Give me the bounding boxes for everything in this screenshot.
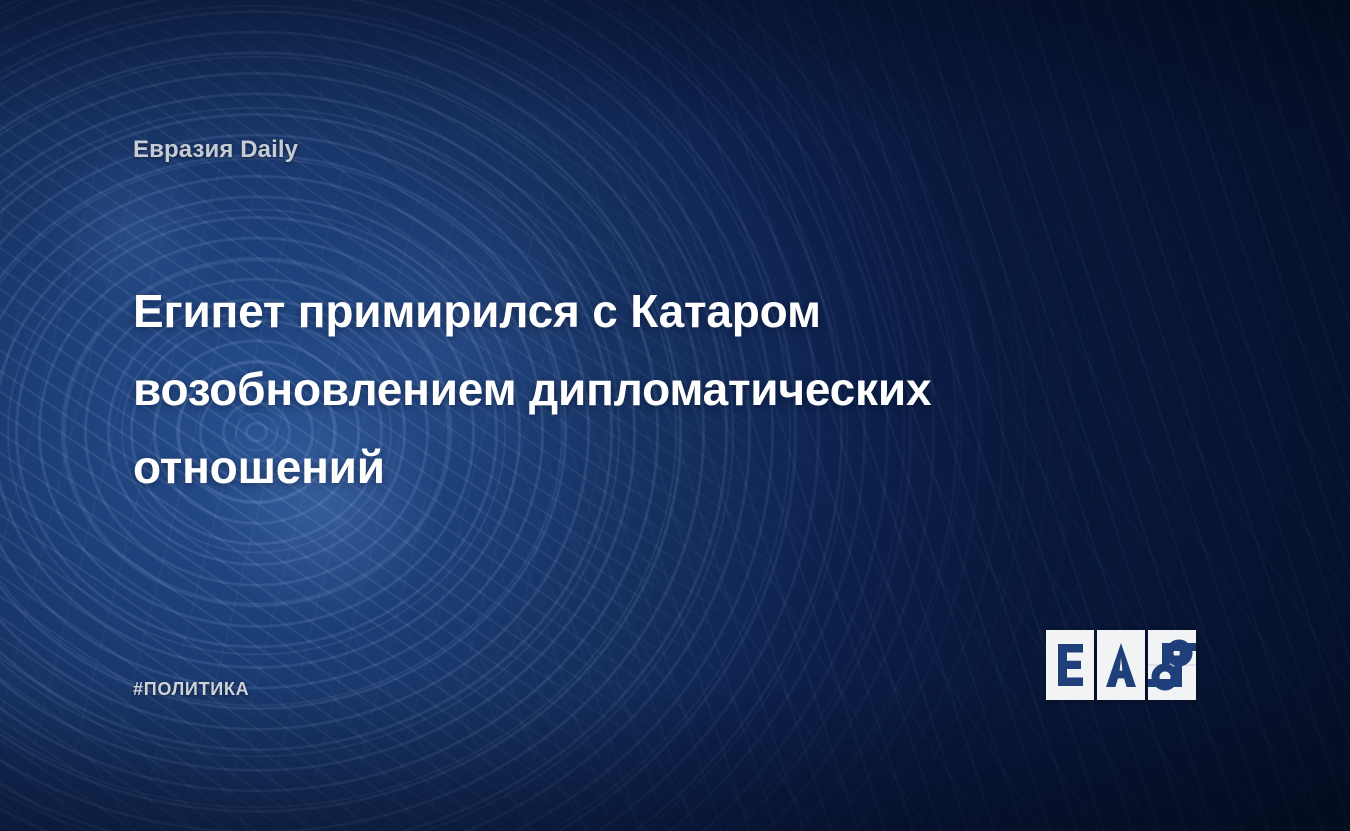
logo-tile-e [1046,630,1094,700]
card-content: Евразия Daily Египет примирился с Катаро… [0,0,1350,831]
letter-d-split-icon [1148,630,1196,700]
logo-tile-d [1148,630,1196,700]
eadaily-logo [1046,630,1196,700]
brand-name: Евразия Daily [133,136,298,164]
letter-e-icon [1046,630,1094,700]
letter-a-icon [1097,630,1145,700]
topic-tag[interactable]: #ПОЛИТИКА [133,679,249,700]
logo-tile-a [1097,630,1145,700]
page-title: Египет примирился с Катаром возобновлени… [133,272,1123,506]
news-card: Евразия Daily Египет примирился с Катаро… [0,0,1350,831]
